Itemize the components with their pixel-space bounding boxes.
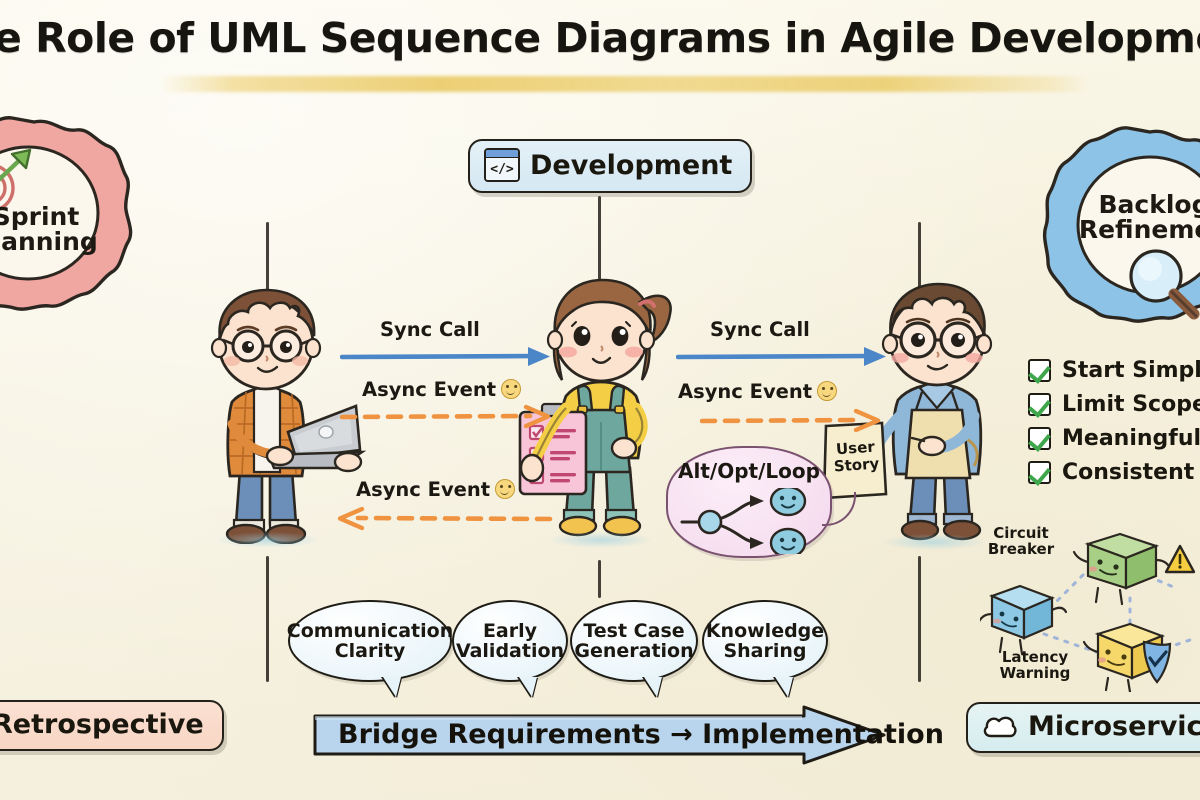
code-glyph: </>: [486, 158, 518, 180]
bubble-line2: Validation: [456, 641, 564, 661]
checklist-item-consistent-naming[interactable]: Consistent N: [1028, 460, 1200, 485]
async-arrow-right: [700, 406, 900, 436]
lifeline-developer-bottom: [266, 556, 269, 682]
fragment-alt-opt-loop[interactable]: Alt/Opt/Loop: [666, 446, 832, 558]
pill-retrospective[interactable]: Retrospective: [0, 700, 224, 751]
checklist-item-label: Start Simple: [1062, 358, 1200, 383]
checkbox-checked-icon[interactable]: [1028, 427, 1051, 450]
bubble-line2: Clarity: [287, 641, 453, 661]
bubble-label: Early Validation: [456, 621, 564, 661]
title-container: e Role of UML Sequence Diagrams in Agile…: [0, 14, 1200, 62]
bubble-tail: [383, 677, 401, 697]
bubble-line2: Generation: [574, 641, 693, 661]
actor-shadow: [216, 532, 320, 548]
bubble-line1: Knowledge: [706, 621, 824, 641]
badge-label-line2: Refinemen: [1079, 217, 1200, 243]
service-node-blue: [980, 586, 1066, 654]
code-window-icon: </>: [484, 148, 520, 182]
bubble-early-validation[interactable]: Early Validation: [452, 600, 568, 682]
badge-sprint-planning[interactable]: Sprint Planning: [0, 116, 140, 312]
bubble-line1: Test Case: [574, 621, 693, 641]
bubble-line1: Early: [456, 621, 564, 641]
fragment-label: Alt/Opt/Loop: [668, 459, 830, 483]
label-latency-warning: Latency Warning: [992, 650, 1078, 682]
illustration-canvas: e Role of UML Sequence Diagrams in Agile…: [0, 0, 1200, 800]
cloud-icon: [982, 714, 1018, 740]
lifeline-analyst-bottom: [598, 560, 601, 598]
pill-development[interactable]: </> Development: [468, 139, 752, 193]
sync-arrow-right: [676, 342, 900, 372]
label-line2: Breaker: [978, 542, 1064, 558]
checklist-item-meaningful-names[interactable]: Meaningful N: [1028, 426, 1200, 451]
badge-sprint-planning-label: Sprint Planning: [0, 204, 98, 255]
banner-label: Bridge Requirements → Implementation: [338, 719, 944, 750]
async-arrow-right: [340, 402, 564, 432]
message-sync-call-1-label: Sync Call: [380, 318, 480, 341]
sync-arrow-right: [340, 342, 564, 372]
microservices-cluster: Circuit Breaker Latency Warning: [980, 512, 1200, 692]
checkbox-checked-icon[interactable]: [1028, 393, 1051, 416]
pill-microservices[interactable]: Microservices: [966, 702, 1200, 753]
bubble-label: Communication Clarity: [287, 621, 453, 661]
label-line2: Warning: [992, 666, 1078, 682]
message-async-event-1-label: Async Event: [362, 378, 521, 401]
bubble-label: Knowledge Sharing: [706, 621, 824, 661]
pill-retrospective-label: Retrospective: [0, 709, 204, 740]
checklist-item-label: Consistent N: [1062, 460, 1200, 485]
badge-label-line2: Planning: [0, 229, 98, 255]
async-text: Async Event: [356, 478, 490, 501]
checklist-item-start-simple[interactable]: Start Simple: [1028, 358, 1200, 383]
checklist-item-limit-scope[interactable]: Limit Scope: [1028, 392, 1200, 417]
pill-microservices-label: Microservices: [1028, 711, 1200, 742]
badge-label-line1: Backlog: [1079, 192, 1200, 218]
checklist: Start Simple Limit Scope Meaningful N Co…: [1028, 358, 1200, 494]
badge-backlog-refinement[interactable]: Backlog Refinemen: [1042, 126, 1200, 326]
window-titlebar: [486, 150, 518, 158]
async-text: Async Event: [678, 380, 812, 403]
bubble-knowledge-sharing[interactable]: Knowledge Sharing: [702, 600, 828, 682]
smile-emoji-icon: [495, 479, 515, 499]
actor-shadow: [882, 534, 986, 550]
badge-label-line1: Sprint: [0, 204, 98, 230]
bubble-communication-clarity[interactable]: Communication Clarity: [288, 600, 452, 682]
pill-development-label: Development: [530, 150, 732, 181]
async-arrow-left: [328, 504, 554, 534]
message-async-event-2-label: Async Event: [356, 478, 515, 501]
checklist-item-label: Meaningful N: [1062, 426, 1200, 451]
bubble-tail: [775, 677, 793, 697]
badge-backlog-refinement-label: Backlog Refinemen: [1079, 192, 1200, 243]
async-text: Async Event: [362, 378, 496, 401]
title-highlight-stroke: [160, 76, 1090, 92]
bubble-label: Test Case Generation: [574, 621, 693, 661]
bubble-line1: Communication: [287, 621, 453, 641]
warning-triangle-icon: [1166, 546, 1194, 572]
page-title: e Role of UML Sequence Diagrams in Agile…: [0, 14, 1200, 62]
message-async-event-3-label: Async Event: [678, 380, 837, 403]
label-circuit-breaker: Circuit Breaker: [978, 526, 1064, 558]
bubble-tail: [519, 677, 537, 697]
smile-emoji-icon: [817, 381, 837, 401]
fragment-branch-diagram: [678, 488, 828, 554]
bubble-line2: Sharing: [706, 641, 824, 661]
checkbox-checked-icon[interactable]: [1028, 461, 1051, 484]
actor-shadow: [549, 532, 653, 548]
checklist-item-label: Limit Scope: [1062, 392, 1200, 417]
smile-emoji-icon: [501, 379, 521, 399]
magnifier-icon: [1120, 244, 1200, 324]
banner-bridge-requirements[interactable]: Bridge Requirements → Implementation: [312, 704, 888, 766]
bubble-test-case-generation[interactable]: Test Case Generation: [570, 600, 698, 682]
shield-check-icon: [1144, 642, 1170, 682]
service-node-green: [1074, 534, 1170, 604]
message-sync-call-2-label: Sync Call: [710, 318, 810, 341]
lifeline-owner-bottom: [918, 556, 921, 682]
checkbox-checked-icon[interactable]: [1028, 359, 1051, 382]
bubble-tail: [644, 677, 662, 697]
